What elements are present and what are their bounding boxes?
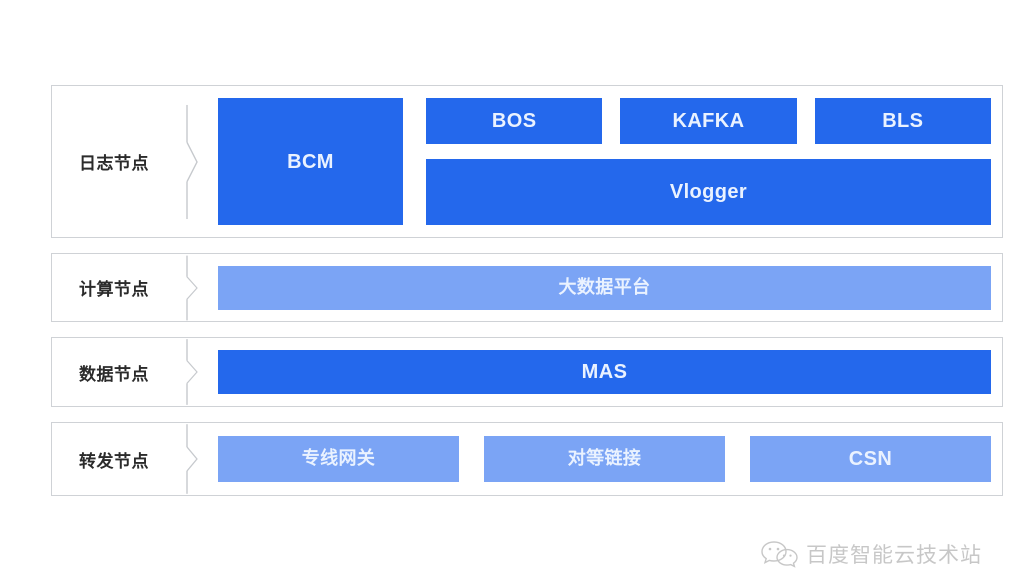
tile-vlogger[interactable]: Vlogger — [426, 159, 991, 225]
row-content-zone: BCM BOS KAFKA BLS Vlogger — [218, 86, 1002, 237]
tile-dedicated-line-gateway[interactable]: 专线网关 — [218, 436, 459, 482]
wechat-logo-icon — [760, 538, 800, 570]
diagram-row-data-node: 数据节点 MAS — [51, 337, 1003, 407]
diagram-row-forward-node: 转发节点 专线网关 对等链接 CSN — [51, 422, 1003, 496]
tile-mas[interactable]: MAS — [218, 350, 991, 394]
diagram-row-compute-node: 计算节点 大数据平台 — [51, 253, 1003, 322]
row-label-data-node: 数据节点 — [79, 360, 149, 385]
row-label-zone: 计算节点 — [52, 254, 218, 321]
tile-bos[interactable]: BOS — [426, 98, 602, 144]
row-label-zone: 转发节点 — [52, 423, 218, 495]
chevron-right-icon — [184, 423, 200, 495]
watermark-text: 百度智能云技术站 — [806, 539, 982, 569]
tile-big-data-platform[interactable]: 大数据平台 — [218, 266, 991, 310]
row-content-zone: MAS — [218, 338, 1002, 406]
tile-bls[interactable]: BLS — [815, 98, 991, 144]
watermark: 百度智能云技术站 — [760, 533, 1025, 575]
architecture-diagram: 日志节点 BCM BOS KAFKA BLS Vlogger — [51, 85, 1003, 496]
chevron-right-icon — [184, 103, 200, 221]
row-content-zone: 大数据平台 — [218, 254, 1002, 321]
tile-peer-connection[interactable]: 对等链接 — [484, 436, 725, 482]
row-label-compute-node: 计算节点 — [79, 275, 149, 300]
chevron-right-icon — [184, 338, 200, 406]
tile-kafka[interactable]: KAFKA — [620, 98, 796, 144]
row-label-log-node: 日志节点 — [79, 149, 149, 174]
row-content-zone: 专线网关 对等链接 CSN — [218, 423, 1002, 495]
log-node-top-tile-group: BOS KAFKA BLS — [426, 98, 991, 144]
log-node-tile-stack: BOS KAFKA BLS Vlogger — [426, 98, 991, 225]
tile-bcm[interactable]: BCM — [218, 98, 403, 225]
diagram-row-log-node: 日志节点 BCM BOS KAFKA BLS Vlogger — [51, 85, 1003, 238]
row-label-zone: 数据节点 — [52, 338, 218, 406]
chevron-right-icon — [184, 254, 200, 321]
row-label-forward-node: 转发节点 — [79, 447, 149, 472]
row-label-zone: 日志节点 — [52, 86, 218, 237]
tile-csn[interactable]: CSN — [750, 436, 991, 482]
forward-node-tile-group: 专线网关 对等链接 CSN — [218, 436, 991, 482]
